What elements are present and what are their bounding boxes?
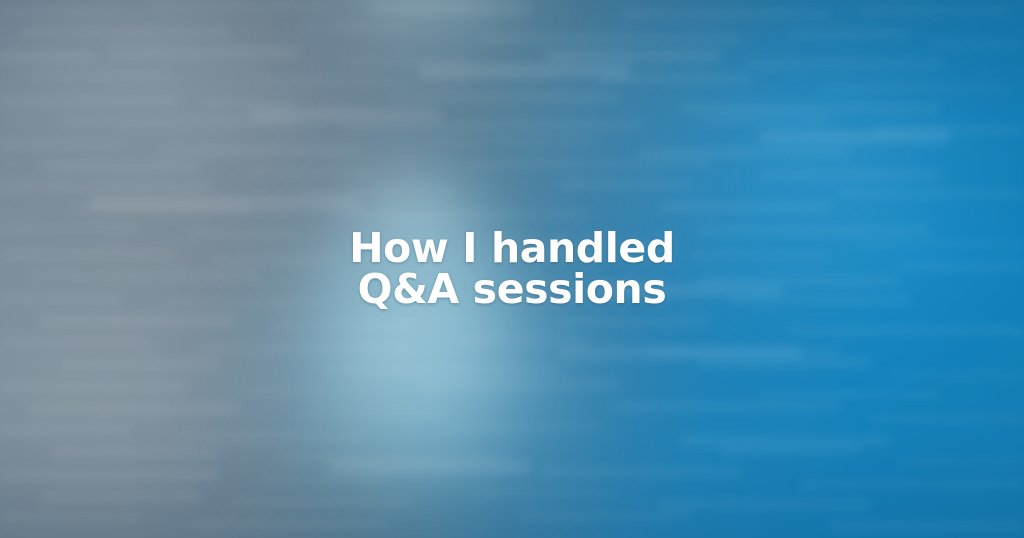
background-streak bbox=[260, 476, 390, 483]
background-streak bbox=[560, 180, 690, 189]
background-streak bbox=[700, 358, 870, 368]
background-streak bbox=[790, 30, 910, 37]
background-streak bbox=[60, 360, 220, 369]
background-streak bbox=[40, 316, 235, 326]
background-streak bbox=[560, 318, 710, 326]
background-streak bbox=[420, 380, 620, 389]
background-streak bbox=[300, 188, 450, 195]
background-streak bbox=[330, 210, 590, 218]
background-streak bbox=[250, 168, 370, 175]
background-streak bbox=[330, 460, 530, 474]
background-streak bbox=[0, 426, 130, 434]
background-streak bbox=[0, 8, 120, 15]
background-streak bbox=[620, 10, 830, 18]
background-streak bbox=[390, 92, 620, 102]
background-streak bbox=[660, 202, 830, 212]
title-line-1: How I handled bbox=[0, 228, 1024, 269]
background-streak bbox=[300, 24, 410, 31]
background-streak bbox=[720, 446, 860, 455]
background-streak bbox=[90, 196, 360, 210]
background-streak bbox=[0, 182, 210, 192]
background-streak bbox=[840, 190, 1024, 198]
background-streak bbox=[0, 96, 175, 105]
background-streak bbox=[890, 372, 1024, 379]
background-streak bbox=[470, 490, 620, 497]
background-streak bbox=[520, 512, 690, 520]
background-streak bbox=[440, 424, 600, 431]
banner-title: How I handled Q&A sessions bbox=[0, 228, 1024, 310]
background-streak bbox=[345, 122, 645, 129]
background-streak bbox=[430, 138, 600, 145]
background-streak bbox=[540, 468, 740, 477]
background-streak bbox=[0, 382, 185, 391]
background-streak bbox=[30, 404, 240, 414]
background-streak bbox=[900, 458, 1024, 465]
background-streak bbox=[930, 40, 1024, 48]
background-streak bbox=[150, 2, 330, 11]
background-streak bbox=[470, 160, 710, 168]
background-streak bbox=[250, 78, 470, 85]
background-streak bbox=[190, 520, 390, 529]
background-streak bbox=[830, 522, 1024, 531]
background-streak bbox=[820, 84, 1010, 91]
background-streak bbox=[110, 48, 300, 57]
background-streak bbox=[420, 64, 630, 78]
background-streak bbox=[300, 410, 450, 417]
background-streak bbox=[640, 148, 850, 158]
background-streak bbox=[200, 344, 410, 353]
background-streak bbox=[680, 104, 940, 113]
background-streak bbox=[270, 322, 410, 329]
background-streak bbox=[760, 390, 940, 398]
background-streak bbox=[0, 140, 120, 148]
background-streak bbox=[760, 170, 940, 179]
background-streak bbox=[0, 338, 150, 346]
background-streak bbox=[745, 60, 945, 68]
background-streak bbox=[230, 498, 410, 506]
hero-banner: How I handled Q&A sessions bbox=[0, 0, 1024, 538]
background-streak bbox=[0, 52, 95, 62]
background-streak bbox=[610, 402, 840, 411]
background-streak bbox=[30, 72, 170, 80]
background-streak bbox=[800, 480, 1024, 488]
background-streak bbox=[370, 4, 530, 14]
background-streak bbox=[660, 500, 870, 509]
background-streak bbox=[870, 414, 1024, 422]
background-streak bbox=[50, 448, 220, 457]
background-streak bbox=[175, 432, 365, 441]
background-streak bbox=[480, 34, 740, 43]
background-streak bbox=[700, 116, 830, 124]
background-streak bbox=[240, 388, 360, 395]
background-streak bbox=[760, 130, 950, 144]
background-streak bbox=[790, 326, 1024, 335]
background-streak bbox=[860, 6, 1010, 15]
background-streak bbox=[205, 100, 295, 107]
title-line-2: Q&A sessions bbox=[0, 269, 1024, 310]
background-streak bbox=[680, 436, 890, 446]
background-streak bbox=[320, 366, 560, 374]
background-streak bbox=[40, 162, 200, 171]
background-streak bbox=[20, 28, 230, 36]
background-streak bbox=[0, 470, 220, 480]
background-streak bbox=[560, 346, 800, 359]
background-streak bbox=[460, 336, 590, 343]
background-streak bbox=[250, 108, 440, 121]
background-streak bbox=[545, 50, 720, 62]
background-streak bbox=[160, 146, 360, 155]
background-streak bbox=[40, 492, 200, 501]
background-streak bbox=[0, 514, 140, 522]
